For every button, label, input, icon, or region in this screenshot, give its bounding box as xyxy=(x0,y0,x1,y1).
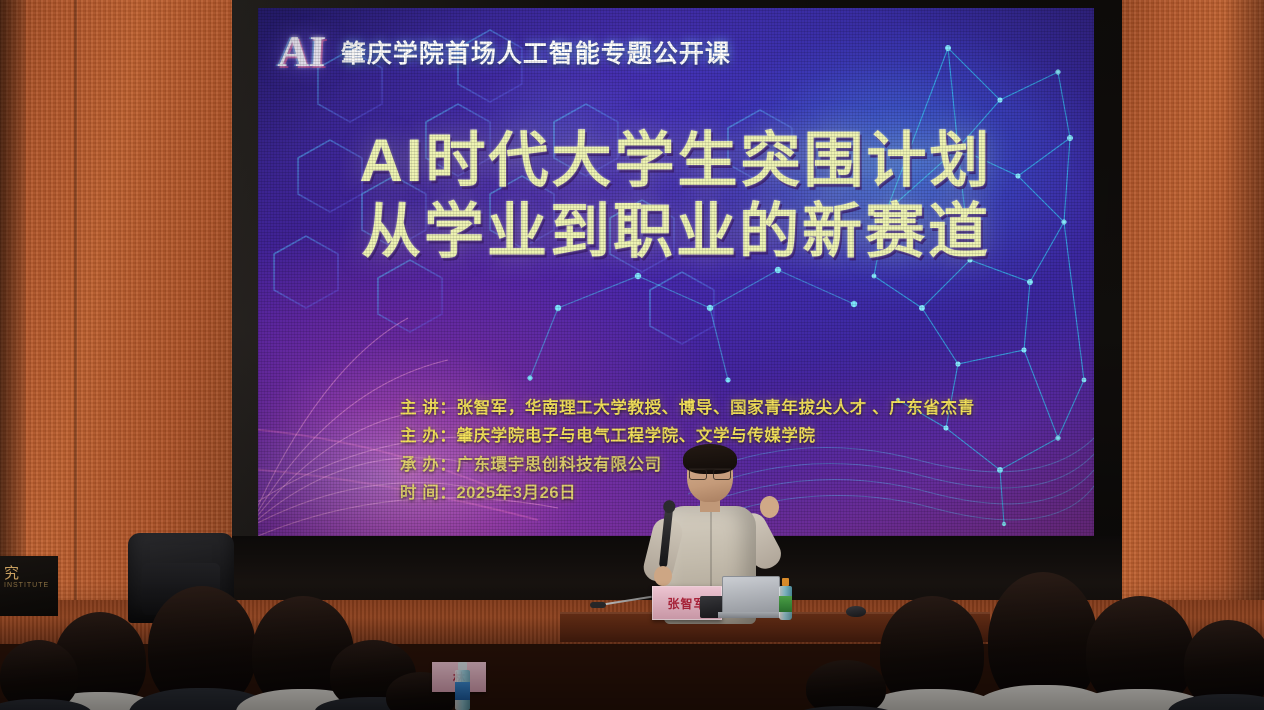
bottle-cap xyxy=(782,578,789,586)
audience-member xyxy=(806,660,886,710)
fg-bottle-label xyxy=(455,682,470,700)
speaker-right-hand xyxy=(760,496,779,518)
mic-rod xyxy=(598,596,652,606)
info-line-organizer: 主 办：肇庆学院电子与电气工程学院、文学与传媒学院 xyxy=(400,422,975,450)
water-bottle-audience xyxy=(455,662,470,710)
left-wood-wall xyxy=(0,0,232,620)
eyeglasses-icon xyxy=(689,468,731,479)
audience-member xyxy=(0,640,78,710)
water-bottle-desk xyxy=(779,578,792,620)
audience-member xyxy=(1184,620,1264,710)
laptop xyxy=(718,576,780,618)
bottle-label xyxy=(779,596,792,612)
lecture-hall-photo: AI 肇庆学院首场人工智能专题公开课 AI时代大学生突围计划 从学业到职业的新赛… xyxy=(0,0,1264,710)
screen-header: AI 肇庆学院首场人工智能专题公开课 xyxy=(278,30,731,74)
main-title-line-1: AI时代大学生突围计划 xyxy=(258,126,1094,197)
audience-member xyxy=(880,596,984,710)
side-wall-plaque: 究 INSTITUTE xyxy=(0,556,58,616)
laptop-base xyxy=(718,612,780,618)
main-title: AI时代大学生突围计划 从学业到职业的新赛道 xyxy=(258,126,1094,268)
main-title-line-2: 从学业到职业的新赛道 xyxy=(258,197,1094,268)
laptop-lid xyxy=(722,576,780,614)
mic-base xyxy=(590,602,606,608)
side-plaque-subtext: INSTITUTE xyxy=(4,582,49,589)
fg-bottle-cap xyxy=(458,662,467,670)
right-wood-wall xyxy=(1118,0,1264,620)
computer-mouse xyxy=(846,606,866,617)
audience-member xyxy=(988,572,1098,710)
ai-logo: AI xyxy=(277,30,326,74)
header-title: 肇庆学院首场人工智能专题公开课 xyxy=(341,34,731,70)
audience-member xyxy=(148,586,256,710)
audience-member xyxy=(1086,596,1194,710)
side-plaque-text: 究 xyxy=(4,562,19,583)
speaker-left-hand xyxy=(654,566,672,586)
info-line-speaker: 主 讲：张智军，华南理工大学教授、博导、国家青年拔尖人才 、广东省杰青 xyxy=(400,394,975,422)
desk-microphone-stand xyxy=(598,596,654,608)
